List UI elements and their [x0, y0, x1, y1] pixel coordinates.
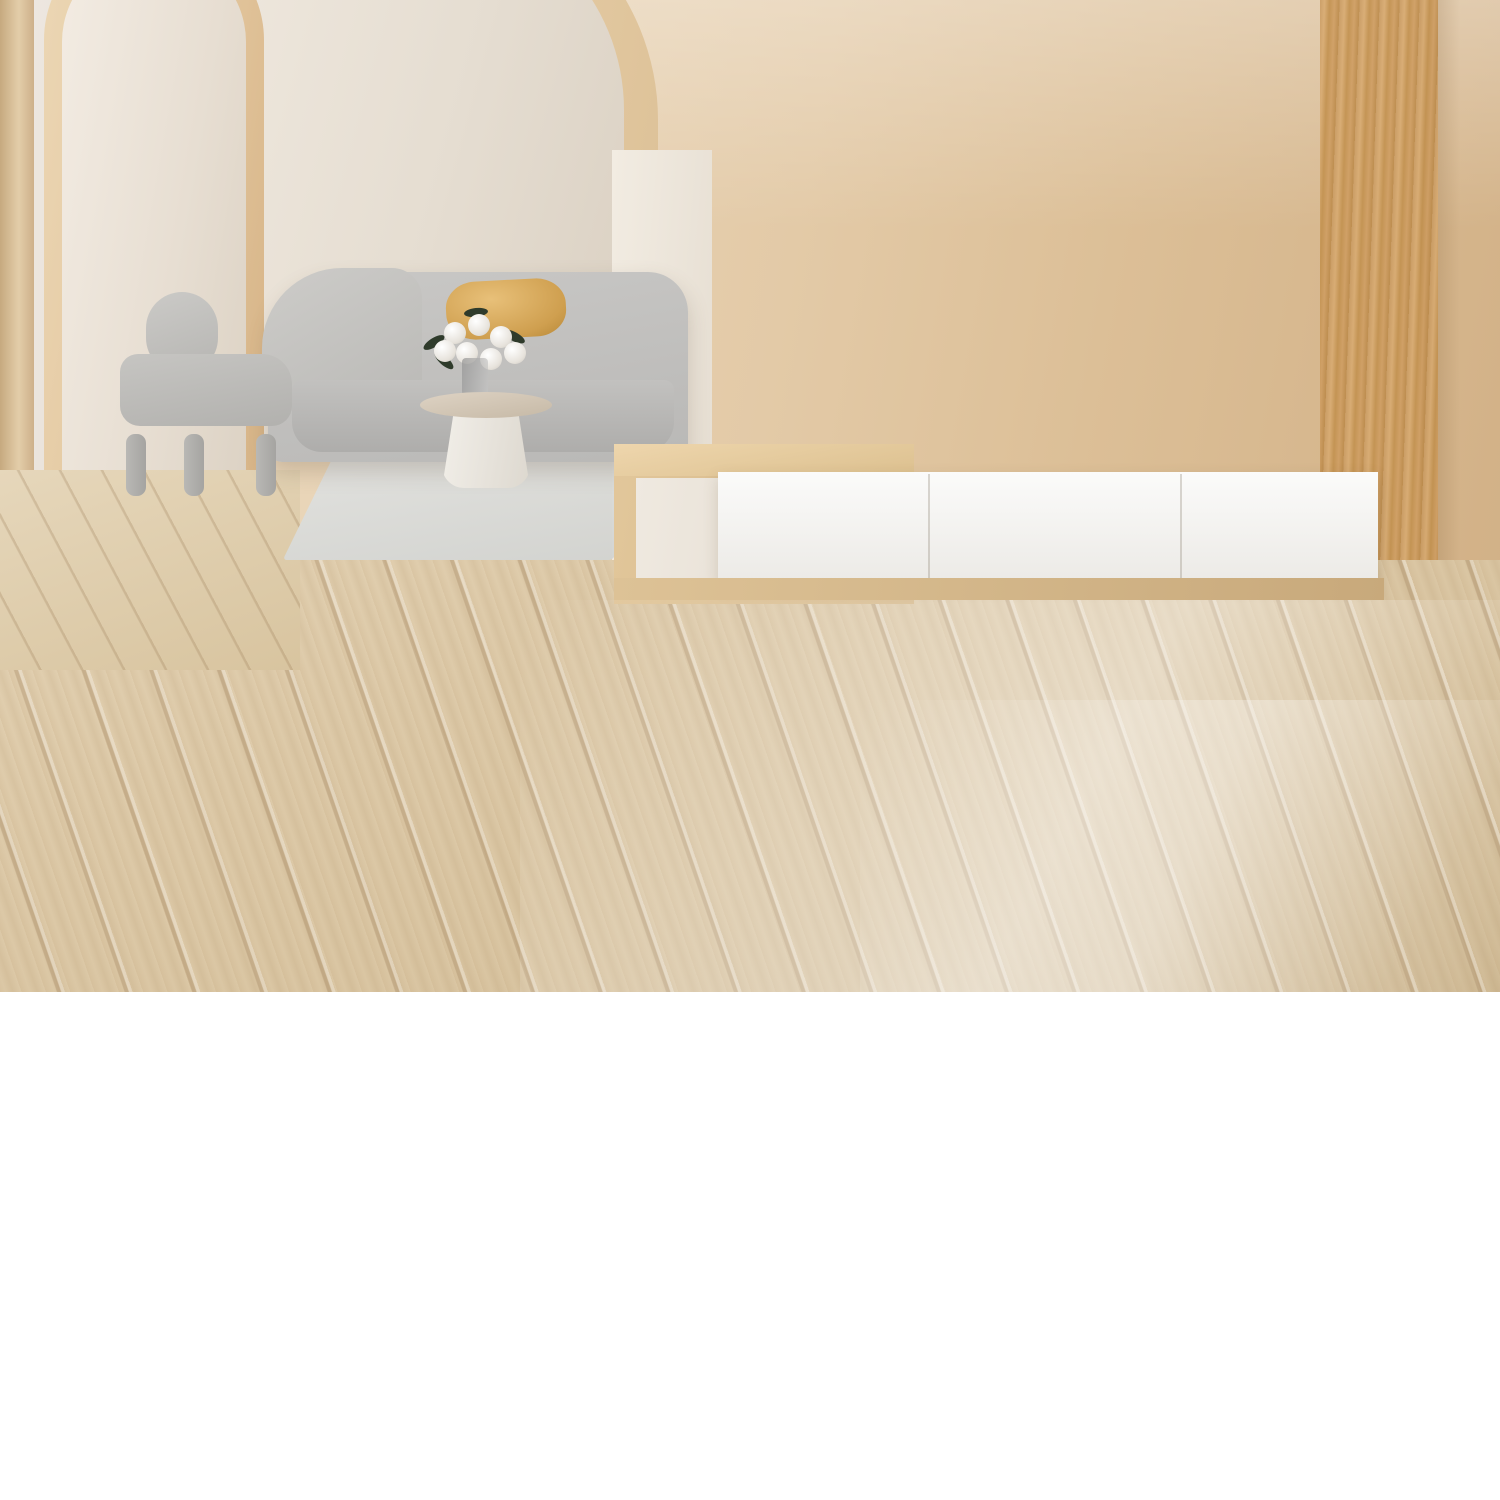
rose [434, 340, 456, 362]
cabinet-seam [1180, 474, 1182, 580]
cabinet-seam [928, 474, 930, 580]
console-plinth [614, 578, 1384, 600]
accent-chair [108, 292, 304, 460]
chair-leg [126, 434, 146, 496]
room-scene-photo [0, 0, 1500, 992]
floor-reflection-2 [860, 700, 1500, 992]
promo-image: MULTIPLE SURFACE TYPES GREAT ON stonetil… [0, 0, 1500, 1500]
side-table-base [442, 408, 530, 488]
side-table [420, 392, 552, 488]
chair-leg [256, 434, 276, 496]
hallway-floor [0, 470, 300, 670]
side-table-top [420, 392, 552, 418]
chair-leg [184, 434, 204, 496]
chair-seat [120, 354, 292, 426]
tv-console-cabinet [718, 472, 1378, 582]
rose [468, 314, 490, 336]
rose [504, 342, 526, 364]
